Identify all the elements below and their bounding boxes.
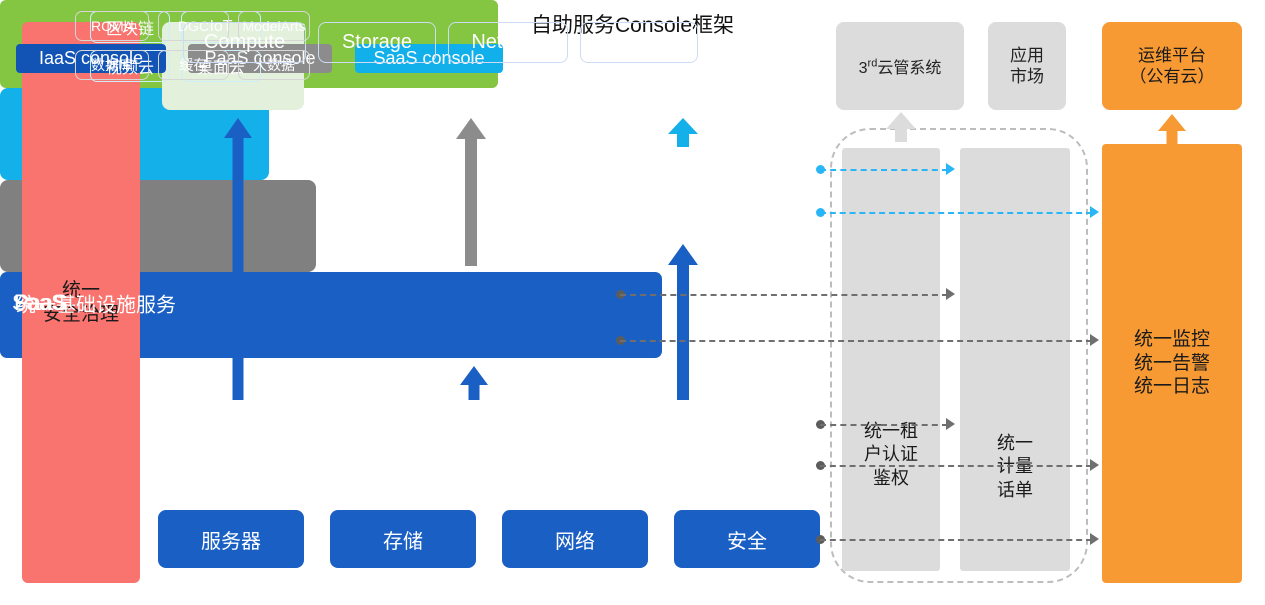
dash-arrowhead-resources-to-ops bbox=[1090, 533, 1099, 545]
resource-box-server[interactable]: 服务器 bbox=[158, 510, 304, 568]
arrow-infra-to-paas bbox=[460, 366, 488, 400]
dash-arrowhead-infra-to-meter bbox=[946, 418, 955, 430]
dash-line-infra-to-meter bbox=[820, 424, 948, 426]
arrow-infra-to-saas bbox=[668, 244, 698, 400]
resource-box-storage[interactable]: 存储 bbox=[330, 510, 476, 568]
dash-arrowhead-paas-to-ops bbox=[1090, 334, 1099, 346]
app-market-box: 应用 市场 bbox=[988, 22, 1066, 110]
infra-chip-compute[interactable]: Compute bbox=[183, 22, 306, 63]
dash-line-resources-to-ops bbox=[820, 539, 1092, 541]
third-party-cloud-management-box: 3rd云管系统 bbox=[836, 22, 964, 110]
dash-arrowhead-saas-to-ops bbox=[1090, 206, 1099, 218]
unified-auth-label: 统一租 户认证 鉴权 bbox=[842, 420, 940, 490]
unified-metering-label: 统一 计量 话单 bbox=[960, 432, 1070, 502]
dash-line-saas-to-ops bbox=[820, 212, 1092, 214]
dash-line-infra-to-ops bbox=[820, 465, 1092, 467]
app-market-label: 应用 市场 bbox=[1010, 45, 1044, 88]
dash-arrowhead-infra-to-ops bbox=[1090, 459, 1099, 471]
dash-line-saas-to-auth bbox=[820, 169, 948, 171]
resource-box-security[interactable]: 安全 bbox=[674, 510, 820, 568]
infrastructure-services-label: 统一基础设施服务 bbox=[16, 288, 176, 317]
infra-chip-network[interactable]: Network bbox=[448, 22, 568, 63]
ops-platform-body-label: 统一监控 统一告警 统一日志 bbox=[1134, 328, 1210, 399]
ops-platform-header-box: 运维平台 （公有云） bbox=[1102, 22, 1242, 110]
infra-chip-cce[interactable]: CCE bbox=[580, 22, 698, 63]
dash-arrowhead-paas-to-meter bbox=[946, 288, 955, 300]
arrow-saas-to-console bbox=[668, 118, 698, 147]
arrow-ops-body-to-ops-header bbox=[1158, 114, 1186, 146]
dash-line-paas-to-meter bbox=[620, 294, 948, 296]
arrow-infra-to-api-gateway bbox=[224, 118, 252, 400]
dash-arrowhead-saas-to-auth bbox=[946, 163, 955, 175]
third-party-cloud-management-label: 3rd云管系统 bbox=[859, 54, 942, 78]
resource-box-network[interactable]: 网络 bbox=[502, 510, 648, 568]
dash-line-paas-to-ops bbox=[620, 340, 1092, 342]
ops-platform-header-label: 运维平台 （公有云） bbox=[1130, 45, 1215, 88]
arrow-paas-to-console bbox=[456, 118, 486, 266]
paas-chip-database[interactable]: 数据库 bbox=[75, 50, 149, 80]
arrow-shared-to-third-party-cloud bbox=[886, 112, 916, 142]
ops-platform-body-box: 统一监控 统一告警 统一日志 bbox=[1102, 144, 1242, 583]
infra-chip-storage[interactable]: Storage bbox=[318, 22, 436, 63]
paas-chip-roma[interactable]: ROMA bbox=[75, 11, 149, 41]
architecture-diagram: 统一 安全治理 API网关 自助服务Console框架 IaaS console… bbox=[0, 0, 1265, 605]
